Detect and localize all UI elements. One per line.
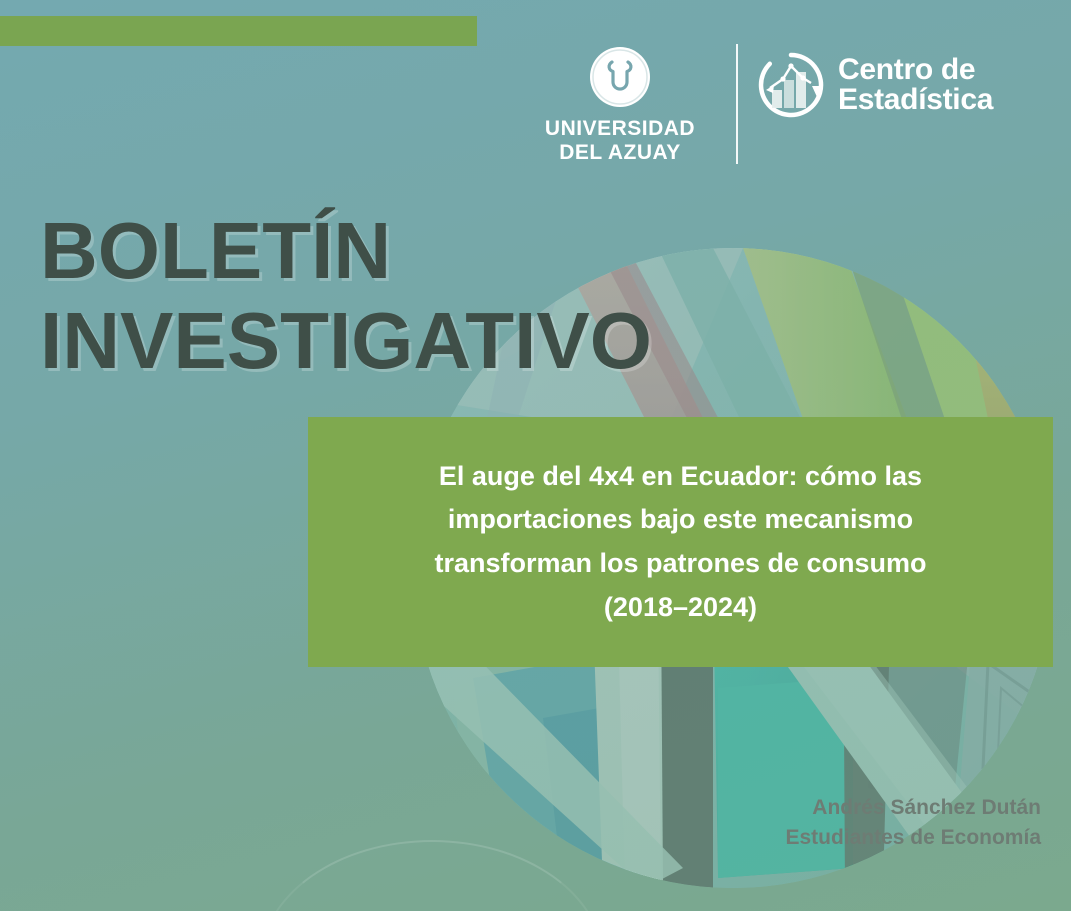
article-title-text: El auge del 4x4 en Ecuador: cómo las imp…: [404, 455, 956, 630]
university-name-line2: DEL AZUAY: [545, 141, 695, 165]
uda-emblem-icon: [589, 46, 651, 108]
center-logo-text: Centro de Estadística: [838, 55, 993, 115]
center-name-line1: Centro de: [838, 55, 993, 85]
article-title-card: El auge del 4x4 en Ecuador: cómo las imp…: [308, 417, 1053, 667]
author-affiliation: Estudiantes de Economía: [785, 823, 1041, 853]
logo-divider: [736, 44, 738, 164]
article-title-line4: (2018–2024): [434, 586, 926, 630]
page-title: BOLETÍN INVESTIGATIVO: [40, 206, 652, 385]
university-logo: UNIVERSIDAD DEL AZUAY: [520, 42, 720, 164]
top-accent-bar: [0, 16, 477, 46]
header-logos: UNIVERSIDAD DEL AZUAY: [520, 42, 1020, 172]
centro-estadistica-icon: [756, 50, 826, 120]
university-logo-text: UNIVERSIDAD DEL AZUAY: [545, 117, 695, 164]
author-block: Andrés Sánchez Dután Estudiantes de Econ…: [785, 793, 1041, 854]
article-title-line3: transforman los patrones de consumo: [434, 542, 926, 586]
page-title-line1: BOLETÍN: [40, 206, 652, 296]
center-logo: Centro de Estadística: [756, 42, 993, 120]
article-title-line1: El auge del 4x4 en Ecuador: cómo las: [434, 455, 926, 499]
page-title-line2: INVESTIGATIVO: [40, 296, 652, 386]
university-name-line1: UNIVERSIDAD: [545, 117, 695, 140]
author-name: Andrés Sánchez Dután: [785, 793, 1041, 823]
article-title-line2: importaciones bajo este mecanismo: [434, 498, 926, 542]
center-name-line2: Estadística: [838, 85, 993, 115]
cover-page: UNIVERSIDAD DEL AZUAY: [0, 0, 1071, 911]
decorative-arc: [260, 840, 604, 911]
